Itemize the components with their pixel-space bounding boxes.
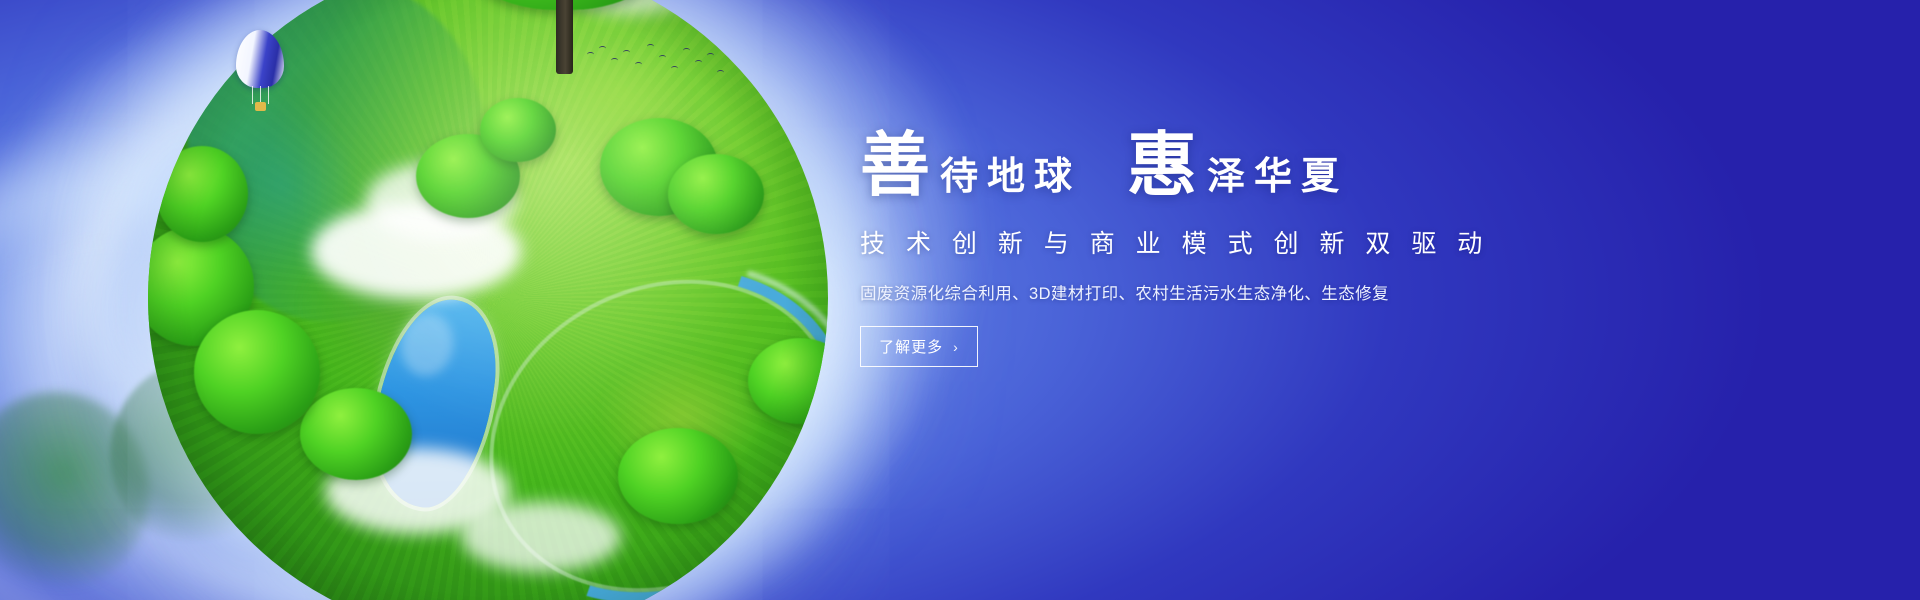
chevron-right-icon: ›: [953, 339, 959, 355]
surface-cloud: [311, 203, 521, 299]
hot-air-balloon-icon: [236, 30, 284, 114]
moss-patch: [597, 352, 767, 482]
tree-icon: [748, 338, 828, 424]
surface-cloud: [325, 448, 510, 534]
learn-more-button[interactable]: 了解更多 ›: [860, 326, 978, 367]
tree-icon: [618, 428, 738, 524]
lake-icon: [363, 291, 506, 516]
tree-icon: [148, 226, 254, 346]
tree-icon: [480, 98, 556, 162]
surface-cloud: [366, 162, 516, 240]
headline-word1-primary: 善: [860, 132, 932, 202]
headline-word1-secondary: 待地球: [940, 158, 1081, 202]
banner-description: 固废资源化综合利用、3D建材打印、农村生活污水生态净化、生态修复: [860, 280, 1420, 304]
tree-icon: [600, 118, 718, 216]
hero-banner: 善 待地球 惠 泽华夏 技 术 创 新 与 商 业 模 式 创 新 双 驱 动 …: [0, 0, 1920, 600]
headline-word2-primary: 惠: [1127, 132, 1199, 202]
surface-cloud: [461, 502, 621, 572]
tree-icon: [668, 154, 764, 234]
moss-patch: [298, 230, 488, 380]
learn-more-label: 了解更多: [879, 336, 943, 357]
tree-icon: [194, 310, 320, 434]
tree-icon: [300, 388, 412, 480]
page-title: 善 待地球 惠 泽华夏: [860, 132, 1420, 202]
banner-subtitle: 技 术 创 新 与 商 业 模 式 创 新 双 驱 动: [860, 224, 1420, 260]
tree-icon: [156, 146, 248, 242]
headline-word2-secondary: 泽华夏: [1207, 158, 1348, 202]
birds-icon: [585, 42, 725, 88]
river-icon: [422, 208, 828, 600]
banner-content: 善 待地球 惠 泽华夏 技 术 创 新 与 商 业 模 式 创 新 双 驱 动 …: [860, 132, 1420, 367]
tree-icon: [416, 134, 520, 218]
